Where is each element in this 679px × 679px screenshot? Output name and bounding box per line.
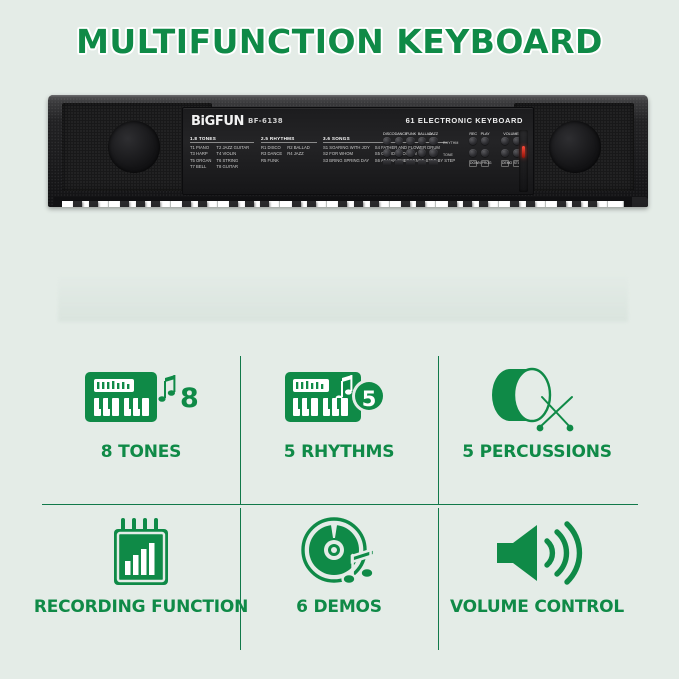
rhythm-label: FUNK [406, 132, 414, 136]
feature-caption: RECORDING FUNCTION [34, 597, 248, 617]
record-button-row-2[interactable] [469, 149, 489, 157]
black-key[interactable] [120, 201, 129, 207]
volume-button-row-2[interactable] [501, 149, 521, 157]
tone-button[interactable] [429, 149, 437, 157]
page-title: MULTIFUNCTION KEYBOARD [0, 22, 679, 61]
tone-row-tag: TONE [443, 153, 453, 157]
rhythm-row-tag: RHYTHM [443, 141, 458, 145]
record-button-labels: REC PLAY [469, 132, 489, 136]
rhythm-label: DISCO [383, 132, 391, 136]
panel-title: 61 ELECTRONIC KEYBOARD [406, 116, 523, 125]
rhythm-item: R5 FUNK [261, 158, 282, 163]
product-reflection [58, 272, 628, 322]
preset-button[interactable] [429, 160, 437, 165]
keyboard-body: BiGFUNBF-6138 61 ELECTRONIC KEYBOARD 1.8… [48, 95, 648, 207]
rhythm-button[interactable] [406, 137, 414, 145]
feature-caption: 5 RHYTHMS [284, 442, 395, 462]
speaker-cone-right [549, 121, 601, 173]
volume-mini-labels: DEMO STOP [501, 160, 521, 167]
tones-col-left: T1 PIANO T3 HARP T5 ORGAN T7 BELL [190, 145, 211, 170]
black-key[interactable] [370, 201, 379, 207]
feature-caption: VOLUME CONTROL [450, 597, 624, 617]
record-button-row[interactable] [469, 137, 489, 145]
black-key[interactable] [182, 201, 191, 207]
brand-logo: BiGFUNBF-6138 [191, 114, 283, 129]
rec-label: REC [469, 132, 477, 136]
rhythm-tone-buttons: DISCO DANCE FUNK BALLAD JAZZ [383, 132, 438, 166]
record-extra-button[interactable] [469, 149, 477, 157]
tone-button-row[interactable] [383, 149, 438, 157]
tone-item: T5 ORGAN [190, 158, 211, 163]
black-key[interactable] [463, 201, 472, 207]
drum-sticks-icon [482, 354, 592, 442]
black-key[interactable] [510, 201, 519, 207]
song-item: S3 BRING SPRING DAY [323, 158, 370, 163]
tone-button[interactable] [395, 149, 403, 157]
svg-text:8: 8 [180, 383, 199, 414]
black-key[interactable] [89, 201, 98, 207]
control-panel: BiGFUNBF-6138 61 ELECTRONIC KEYBOARD 1.8… [182, 107, 534, 195]
speaker-volume-icon [487, 509, 587, 597]
rhythm-button-labels: DISCO DANCE FUNK BALLAD JAZZ [383, 132, 438, 136]
feature-grid: 8 8 TONES [42, 352, 638, 652]
tone-item: T4 VIOLIN [216, 151, 249, 156]
tone-item: T6 STRING [216, 158, 249, 163]
grid-divider-horizontal [42, 504, 638, 505]
volume-button-row[interactable] [501, 137, 521, 145]
black-key[interactable] [572, 201, 581, 207]
rhythm-button[interactable] [418, 137, 426, 145]
model-number: BF-6138 [248, 117, 283, 125]
tone-item: T2 JAZZ GUITAR [216, 145, 249, 150]
tone-item: T1 PIANO [190, 145, 211, 150]
black-key[interactable] [401, 201, 410, 207]
rhythms-legend: 2.5 RHYTHMS R1 DISCO R3 DANCE R5 FUNK R2… [261, 136, 317, 163]
tone-item: T3 HARP [190, 151, 211, 156]
rhythms-col-left: R1 DISCO R3 DANCE R5 FUNK [261, 145, 282, 163]
tone-button[interactable] [383, 149, 391, 157]
rhythms-col-right: R2 BALLAD R4 JAZZ [287, 145, 310, 163]
black-key[interactable] [292, 201, 301, 207]
feature-caption: 8 TONES [101, 442, 181, 462]
black-key[interactable] [307, 201, 316, 207]
speaker-cone-left [108, 121, 160, 173]
rhythm-item: R1 DISCO [261, 145, 282, 150]
black-key[interactable] [229, 201, 238, 207]
rhythm-item: R4 JAZZ [287, 151, 310, 156]
keyboard-notes-5-icon: 5 [279, 354, 399, 442]
down-label: DOWN [469, 160, 477, 167]
rhythm-item: R3 DANCE [261, 151, 282, 156]
volume-down-button[interactable] [501, 137, 509, 145]
record-mini-labels: DOWN PROG [469, 160, 489, 167]
rhythm-label: BALLAD [418, 132, 426, 136]
demo-button[interactable] [501, 149, 509, 157]
tones-col-right: T2 JAZZ GUITAR T4 VIOLIN T6 STRING T8 GU… [216, 145, 249, 170]
cd-music-icon [296, 509, 382, 597]
black-key[interactable] [198, 201, 207, 207]
play-label: PLAY [481, 132, 489, 136]
rhythm-button[interactable] [429, 137, 437, 145]
feature-cell-recording: RECORDING FUNCTION [42, 507, 240, 657]
feature-cell-percussion: 5 PERCUSSIONS [438, 352, 636, 502]
tones-legend: 1.8 TONES T1 PIANO T3 HARP T5 ORGAN T7 B… [190, 136, 254, 170]
songs-col-left: S1 SOARING WITH JOY S2 FOR WHOM S3 BRING… [323, 145, 370, 163]
black-key[interactable] [448, 201, 457, 207]
rhythm-item: R2 BALLAD [287, 145, 310, 150]
rhythm-button-row[interactable] [383, 137, 438, 145]
feature-caption: 6 DEMOS [296, 597, 382, 617]
song-item: S1 SOARING WITH JOY [323, 145, 370, 150]
volume-button-labels: VOLUME [501, 132, 521, 136]
record-buttons: REC PLAY DOWN PROG [469, 132, 489, 167]
tones-heading: 1.8 TONES [190, 136, 254, 143]
preset-button[interactable] [406, 160, 414, 165]
preset-button[interactable] [418, 160, 426, 165]
tone-button[interactable] [406, 149, 414, 157]
feature-cell-rhythms: 5 5 RHYTHMS [240, 352, 438, 502]
keyboard-right-cap [632, 197, 648, 207]
preset-button[interactable] [383, 160, 391, 165]
prog-label: PROG [481, 160, 489, 167]
brand-name: BiGFUN [191, 114, 244, 129]
rec-button[interactable] [469, 137, 477, 145]
svg-text:5: 5 [362, 387, 377, 411]
tone-item: T8 GUITAR [216, 164, 249, 169]
preset-button[interactable] [395, 160, 403, 165]
black-key[interactable] [479, 201, 488, 207]
volume-buttons: VOLUME DEMO STOP [501, 132, 521, 167]
product-infographic: MULTIFUNCTION KEYBOARD BiGFUNBF-6138 61 … [0, 0, 679, 679]
black-key[interactable] [354, 201, 363, 207]
black-key[interactable] [338, 201, 347, 207]
black-key[interactable] [526, 201, 535, 207]
preset-square-buttons[interactable] [383, 160, 438, 165]
feature-cell-volume: VOLUME CONTROL [438, 507, 636, 657]
feature-cell-demos: 6 DEMOS [240, 507, 438, 657]
record-extra-button[interactable] [481, 149, 489, 157]
black-key[interactable] [557, 201, 566, 207]
demo-label: DEMO [501, 160, 509, 167]
black-key[interactable] [416, 201, 425, 207]
power-strip [519, 130, 528, 192]
rhythm-label: DANCE [395, 132, 403, 136]
rhythm-button[interactable] [395, 137, 403, 145]
feature-caption: 5 PERCUSSIONS [462, 442, 612, 462]
black-key[interactable] [260, 201, 269, 207]
tone-button[interactable] [418, 149, 426, 157]
rhythm-label: JAZZ [429, 132, 437, 136]
recorder-bars-icon [101, 509, 181, 597]
black-key[interactable] [151, 201, 160, 207]
play-button[interactable] [481, 137, 489, 145]
black-key[interactable] [73, 201, 82, 207]
black-key[interactable] [588, 201, 597, 207]
white-key[interactable] [608, 201, 624, 207]
song-item: S2 FOR WHOM [323, 151, 370, 156]
rhythm-button[interactable] [383, 137, 391, 145]
black-key[interactable] [136, 201, 145, 207]
keyboard-notes-8-icon: 8 [81, 354, 201, 442]
power-led-icon [522, 146, 526, 158]
volume-label: VOLUME [501, 132, 521, 136]
black-key[interactable] [245, 201, 254, 207]
rhythms-heading: 2.5 RHYTHMS [261, 136, 317, 143]
feature-cell-tones: 8 8 TONES [42, 352, 240, 502]
piano-keys[interactable] [62, 201, 634, 207]
tone-item: T7 BELL [190, 164, 211, 169]
